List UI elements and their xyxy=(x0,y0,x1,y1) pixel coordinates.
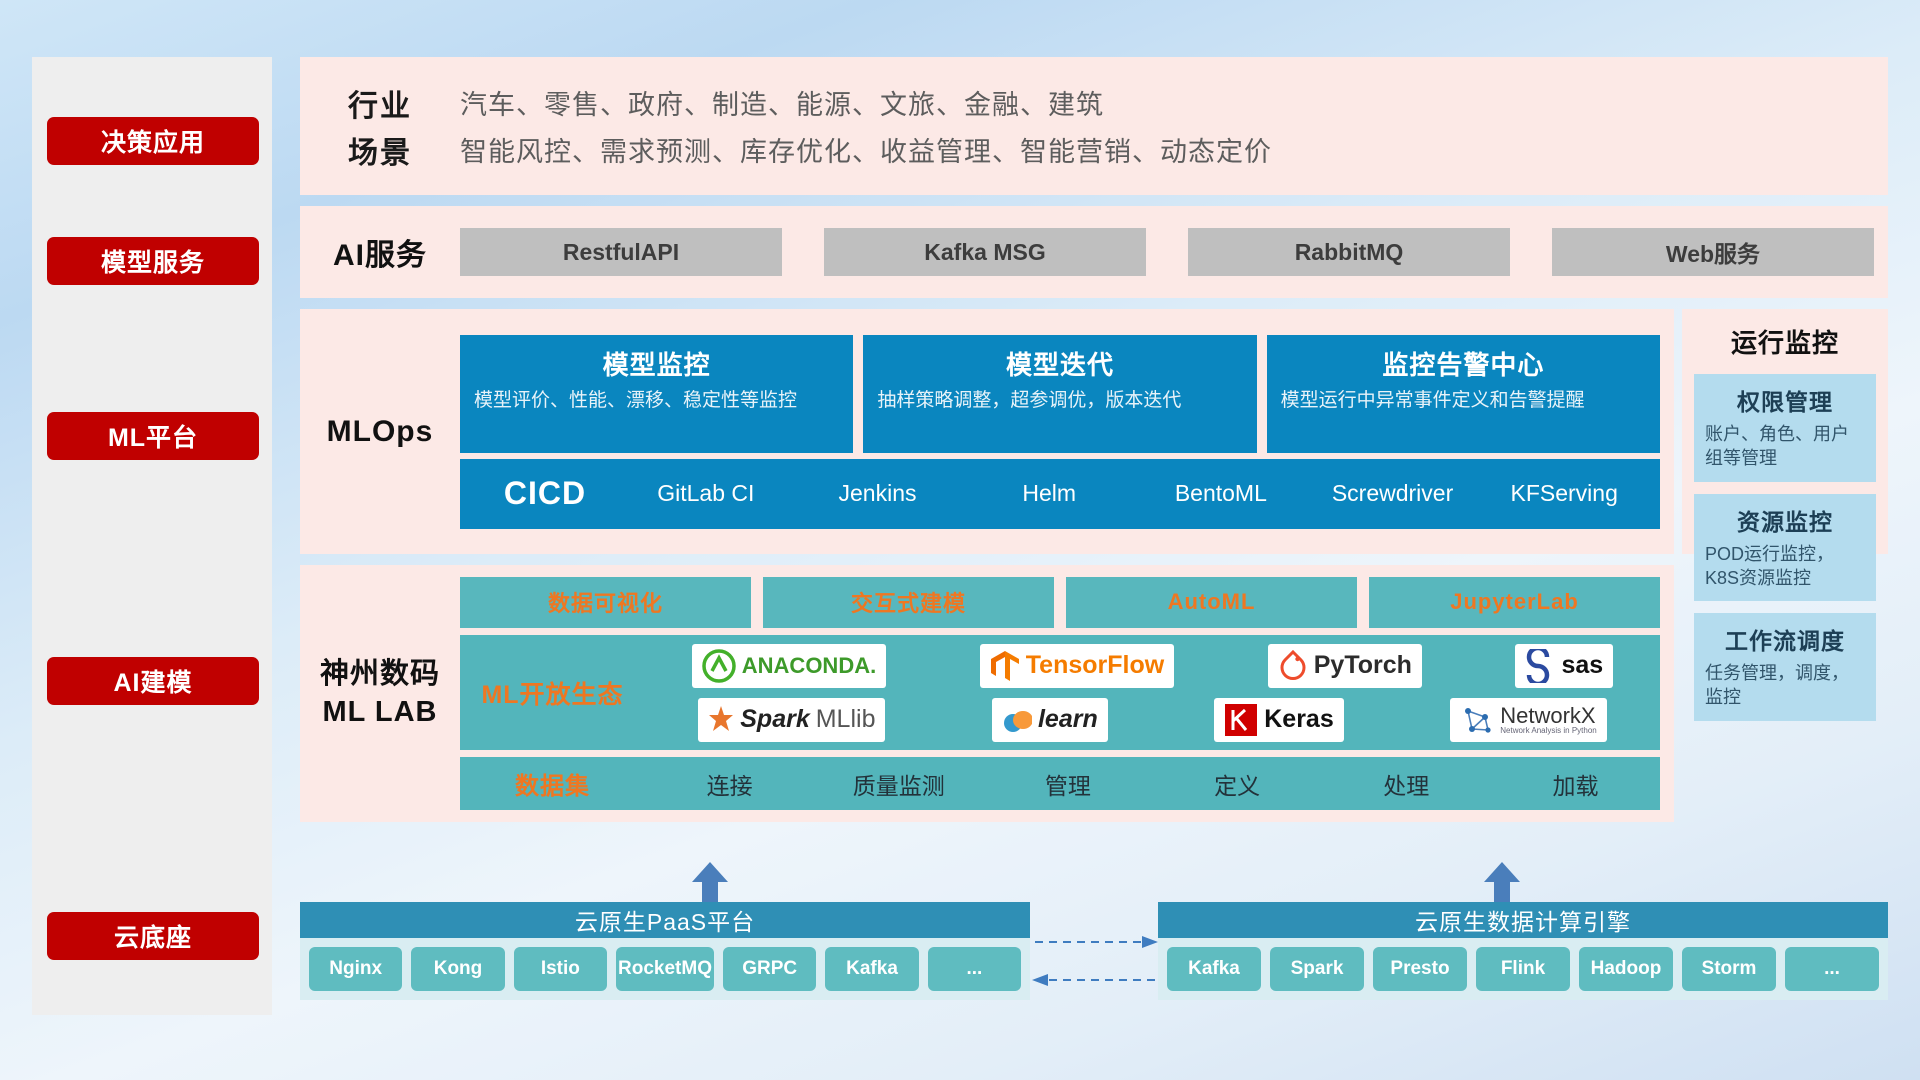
cloud-chip-more-left[interactable]: ... xyxy=(928,947,1021,991)
cloud-chip-kong[interactable]: Kong xyxy=(411,947,504,991)
cloud-chip-rocketmq[interactable]: RocketMQ xyxy=(616,947,714,991)
dataset-label: 数据集 xyxy=(460,766,645,801)
anaconda-icon xyxy=(702,649,736,683)
band-divider xyxy=(300,298,1888,309)
cloud-chip-kafka-r[interactable]: Kafka xyxy=(1167,947,1261,991)
spark-logo-text: Spark xyxy=(740,705,809,734)
card-desc: 抽样策略调整，超参调优，版本迭代 xyxy=(877,388,1242,413)
cloud-chip-nginx[interactable]: Nginx xyxy=(309,947,402,991)
ai-service-chip-rabbitmq[interactable]: RabbitMQ xyxy=(1188,228,1510,276)
cloud-paas-title: 云原生PaaS平台 xyxy=(300,902,1030,938)
industry-values: 汽车、零售、政府、制造、能源、文旅、金融、建筑 xyxy=(460,83,1104,122)
ml-ecosystem-label: ML开放生态 xyxy=(460,635,645,750)
card-title: 权限管理 xyxy=(1705,383,1865,417)
networkx-logo-text: NetworkX xyxy=(1500,705,1597,727)
cloud-chip-kafka[interactable]: Kafka xyxy=(825,947,918,991)
ai-service-chip-kafka-msg[interactable]: Kafka MSG xyxy=(824,228,1146,276)
mlops-band: MLOps 模型监控 模型评价、性能、漂移、稳定性等监控 模型迭代 抽样策略调整… xyxy=(300,309,1888,554)
mlops-card-list: 模型监控 模型评价、性能、漂移、稳定性等监控 模型迭代 抽样策略调整，超参调优，… xyxy=(460,335,1660,453)
runtime-monitor-title: 运行监控 xyxy=(1694,323,1876,360)
logo-row-1: ANACONDA. TensorFlow xyxy=(645,641,1660,691)
dataset-item-load[interactable]: 加载 xyxy=(1491,767,1660,801)
rail-chip-decision-app[interactable]: 决策应用 xyxy=(47,117,259,165)
anaconda-logo: ANACONDA. xyxy=(692,644,886,688)
dataset-item-connect[interactable]: 连接 xyxy=(645,767,814,801)
card-desc: 模型运行中异常事件定义和告警提醒 xyxy=(1281,388,1646,413)
keras-icon xyxy=(1224,703,1258,737)
tool-chip-automl[interactable]: AutoML xyxy=(1066,577,1357,628)
tensorflow-logo: TensorFlow xyxy=(980,644,1174,688)
cicd-label: CICD xyxy=(470,475,620,512)
bidirectional-dashed-connector xyxy=(1030,926,1160,996)
cloud-data-engine-group: 云原生数据计算引擎 Kafka Spark Presto Flink Hadoo… xyxy=(1158,902,1888,1000)
tool-chip-jupyterlab[interactable]: JupyterLab xyxy=(1369,577,1660,628)
cloud-paas-chip-list: Nginx Kong Istio RocketMQ GRPC Kafka ... xyxy=(300,938,1030,1000)
mlops-content: 模型监控 模型评价、性能、漂移、稳定性等监控 模型迭代 抽样策略调整，超参调优，… xyxy=(460,321,1674,543)
dataset-row: 数据集 连接 质量监测 管理 定义 处理 加载 xyxy=(460,757,1660,810)
cicd-item-bentoml[interactable]: BentoML xyxy=(1135,479,1307,508)
cicd-item-screwdriver[interactable]: Screwdriver xyxy=(1307,479,1479,508)
scenario-row: 场景 智能风控、需求预测、库存优化、收益管理、智能营销、动态定价 xyxy=(300,126,1888,173)
dataset-item-define[interactable]: 定义 xyxy=(1153,767,1322,801)
tool-chip-interactive-modeling[interactable]: 交互式建模 xyxy=(763,577,1054,628)
scenario-values: 智能风控、需求预测、库存优化、收益管理、智能营销、动态定价 xyxy=(460,130,1272,169)
card-desc: 模型评价、性能、漂移、稳定性等监控 xyxy=(474,388,839,413)
ml-ecosystem-row: ML开放生态 ANACONDA. xyxy=(460,635,1660,750)
cicd-item-gitlab-ci[interactable]: GitLab CI xyxy=(620,479,792,508)
cicd-item-kfserving[interactable]: KFServing xyxy=(1478,479,1650,508)
cloud-chip-istio[interactable]: Istio xyxy=(514,947,607,991)
card-desc: 账户、角色、用户组等管理 xyxy=(1705,422,1865,471)
industry-label: 行业 xyxy=(300,81,460,125)
scenario-label: 场景 xyxy=(300,128,460,172)
ml-lab-content: 数据可视化 交互式建模 AutoML JupyterLab ML开放生态 xyxy=(460,565,1674,822)
sas-logo-text: sas xyxy=(1561,651,1603,680)
tensorflow-icon xyxy=(990,649,1020,683)
cloud-chip-more-right[interactable]: ... xyxy=(1785,947,1879,991)
pytorch-logo-text: PyTorch xyxy=(1314,651,1412,680)
mlops-card-model-iteration[interactable]: 模型迭代 抽样策略调整，超参调优，版本迭代 xyxy=(863,335,1256,453)
keras-logo-text: Keras xyxy=(1264,705,1334,734)
ai-service-chip-list: RestfulAPI Kafka MSG RabbitMQ Web服务 xyxy=(460,228,1888,276)
ml-lab-panel: 神州数码 ML LAB 数据可视化 交互式建模 AutoML JupyterLa… xyxy=(300,565,1674,822)
cloud-chip-presto[interactable]: Presto xyxy=(1373,947,1467,991)
dataset-item-manage[interactable]: 管理 xyxy=(983,767,1152,801)
sas-icon xyxy=(1525,649,1555,683)
cloud-data-engine-chip-list: Kafka Spark Presto Flink Hadoop Storm ..… xyxy=(1158,938,1888,1000)
dataset-item-quality-monitor[interactable]: 质量监测 xyxy=(814,767,983,801)
band-divider xyxy=(300,554,1888,565)
pytorch-icon xyxy=(1278,649,1308,683)
runtime-monitor-panel: 运行监控 权限管理 账户、角色、用户组等管理 资源监控 POD运行监控，K8S资… xyxy=(1682,309,1888,554)
card-title: 资源监控 xyxy=(1705,503,1865,537)
modeling-right-spacer xyxy=(1674,565,1888,822)
cloud-chip-spark[interactable]: Spark xyxy=(1270,947,1364,991)
ai-service-chip-restfulapi[interactable]: RestfulAPI xyxy=(460,228,782,276)
layer-rail: 决策应用 模型服务 ML平台 AI建模 云底座 xyxy=(32,57,272,1015)
card-title: 模型监控 xyxy=(474,345,839,382)
anaconda-logo-text: ANACONDA. xyxy=(742,653,876,679)
rail-chip-cloud-base[interactable]: 云底座 xyxy=(47,912,259,960)
tensorflow-logo-text: TensorFlow xyxy=(1026,651,1164,680)
ai-service-chip-web-service[interactable]: Web服务 xyxy=(1552,228,1874,276)
ml-tool-chip-list: 数据可视化 交互式建模 AutoML JupyterLab xyxy=(460,577,1660,628)
cloud-chip-hadoop[interactable]: Hadoop xyxy=(1579,947,1673,991)
arrow-up-data-engine xyxy=(1480,862,1524,904)
sas-logo: sas xyxy=(1515,644,1613,688)
cloud-data-engine-title: 云原生数据计算引擎 xyxy=(1158,902,1888,938)
dataset-item-list: 连接 质量监测 管理 定义 处理 加载 xyxy=(645,767,1660,801)
mlops-label: MLOps xyxy=(300,415,460,449)
rail-chip-ai-modeling[interactable]: AI建模 xyxy=(47,657,259,705)
cicd-item-list: GitLab CI Jenkins Helm BentoML Screwdriv… xyxy=(620,479,1650,508)
industry-scenario-band: 行业 汽车、零售、政府、制造、能源、文旅、金融、建筑 场景 智能风控、需求预测、… xyxy=(300,57,1888,195)
arrow-up-paas xyxy=(688,862,732,904)
card-title: 监控告警中心 xyxy=(1281,345,1646,382)
rail-chip-model-service[interactable]: 模型服务 xyxy=(47,237,259,285)
main-stack: 行业 汽车、零售、政府、制造、能源、文旅、金融、建筑 场景 智能风控、需求预测、… xyxy=(300,57,1888,822)
cloud-chip-storm[interactable]: Storm xyxy=(1682,947,1776,991)
ai-modeling-band: 神州数码 ML LAB 数据可视化 交互式建模 AutoML JupyterLa… xyxy=(300,565,1888,822)
band-divider xyxy=(300,195,1888,206)
industry-row: 行业 汽车、零售、政府、制造、能源、文旅、金融、建筑 xyxy=(300,79,1888,126)
pytorch-logo: PyTorch xyxy=(1268,644,1422,688)
mllib-logo-text: MLlib xyxy=(816,705,876,734)
ml-lab-label-line1: 神州数码 xyxy=(320,656,440,693)
scikit-learn-logo-text: learn xyxy=(1038,705,1098,734)
cicd-item-helm[interactable]: Helm xyxy=(963,479,1135,508)
cloud-chip-grpc[interactable]: GRPC xyxy=(723,947,816,991)
cicd-bar: CICD GitLab CI Jenkins Helm BentoML Scre… xyxy=(460,459,1660,529)
card-title: 模型迭代 xyxy=(877,345,1242,382)
cloud-base-zone: 云原生PaaS平台 Nginx Kong Istio RocketMQ GRPC… xyxy=(300,880,1888,1015)
spark-mllib-logo: Spark MLlib xyxy=(698,698,885,742)
mlops-panel: MLOps 模型监控 模型评价、性能、漂移、稳定性等监控 模型迭代 抽样策略调整… xyxy=(300,309,1674,554)
scikit-learn-logo: learn xyxy=(992,698,1108,742)
diagram-canvas: 决策应用 模型服务 ML平台 AI建模 云底座 行业 汽车、零售、政府、制造、能… xyxy=(0,0,1920,1080)
networkx-logo: NetworkX Network Analysis in Python xyxy=(1450,698,1607,742)
networkx-logo-subtext: Network Analysis in Python xyxy=(1500,727,1597,735)
cloud-chip-flink[interactable]: Flink xyxy=(1476,947,1570,991)
monitor-card-permission[interactable]: 权限管理 账户、角色、用户组等管理 xyxy=(1694,374,1876,482)
ml-lab-label: 神州数码 ML LAB xyxy=(300,565,460,822)
networkx-icon xyxy=(1460,703,1494,737)
logo-row-2: Spark MLlib learn xyxy=(645,695,1660,745)
spark-star-icon xyxy=(708,703,734,737)
rail-chip-ml-platform[interactable]: ML平台 xyxy=(47,412,259,460)
ai-service-label: AI服务 xyxy=(300,230,460,274)
cicd-item-jenkins[interactable]: Jenkins xyxy=(792,479,964,508)
scikit-learn-icon xyxy=(1002,703,1032,737)
ai-service-band: AI服务 RestfulAPI Kafka MSG RabbitMQ Web服务 xyxy=(300,206,1888,298)
ml-lab-label-line2: ML LAB xyxy=(320,694,440,731)
mlops-card-model-monitoring[interactable]: 模型监控 模型评价、性能、漂移、稳定性等监控 xyxy=(460,335,853,453)
ml-ecosystem-logo-grid: ANACONDA. TensorFlow xyxy=(645,635,1660,750)
cloud-paas-group: 云原生PaaS平台 Nginx Kong Istio RocketMQ GRPC… xyxy=(300,902,1030,1000)
keras-logo: Keras xyxy=(1214,698,1344,742)
mlops-card-alert-center[interactable]: 监控告警中心 模型运行中异常事件定义和告警提醒 xyxy=(1267,335,1660,453)
dataset-item-process[interactable]: 处理 xyxy=(1322,767,1491,801)
tool-chip-data-visualization[interactable]: 数据可视化 xyxy=(460,577,751,628)
